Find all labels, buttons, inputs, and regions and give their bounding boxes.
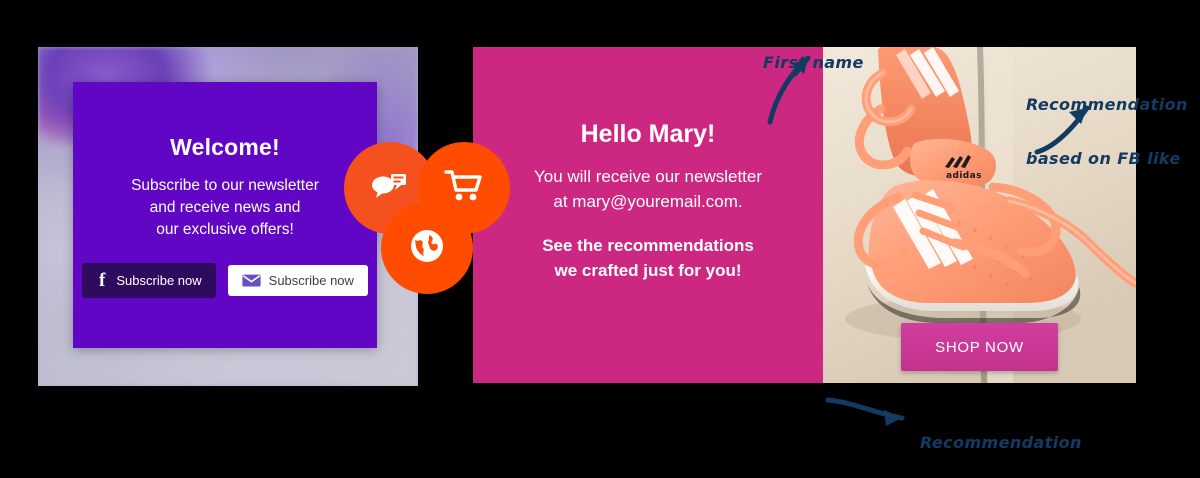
chat-bubbles-icon [370, 171, 410, 206]
facebook-subscribe-label: Subscribe now [116, 273, 201, 288]
subscribe-button-group: f Subscribe now Subscribe now [82, 263, 368, 298]
web-channel-circle[interactable] [381, 202, 473, 294]
email-greeting: Hello Mary! [581, 120, 716, 149]
arrow-to-product-fb-icon [1035, 100, 1105, 156]
welcome-body: Subscribe to our newsletter and receive … [131, 175, 319, 241]
svg-text:adidas: adidas [946, 171, 982, 181]
email-subscribe-label: Subscribe now [269, 273, 354, 288]
welcome-title: Welcome! [170, 134, 280, 161]
shopping-cart-icon [444, 169, 484, 208]
arrow-to-greeting-icon [762, 48, 822, 128]
arrow-to-product-gender-icon [826, 392, 912, 436]
email-body: You will receive our newsletter at mary@… [534, 165, 762, 214]
envelope-icon [242, 274, 261, 287]
globe-icon [409, 228, 445, 269]
welcome-body-line-1: Subscribe to our newsletter [131, 175, 319, 197]
facebook-subscribe-button[interactable]: f Subscribe now [82, 263, 216, 298]
welcome-body-line-3: our exclusive offers! [131, 219, 319, 241]
welcome-body-line-2: and receive news and [131, 197, 319, 219]
screenshot-canvas: Welcome! Subscribe to our newsletter and… [0, 0, 1200, 478]
facebook-icon: f [96, 271, 108, 290]
welcome-card: Welcome! Subscribe to our newsletter and… [73, 82, 377, 348]
shop-now-button[interactable]: SHOP NOW [901, 323, 1058, 371]
channel-icon-cluster [344, 140, 510, 295]
email-body-line-2: at mary@youremail.com. [534, 190, 762, 215]
email-cta-line-2: we crafted just for you! [542, 259, 754, 284]
email-body-line-1: You will receive our newsletter [534, 165, 762, 190]
annotation-gender: Recommendation based on Gender [920, 398, 1082, 478]
annotation-gender-line-1: Recommendation [920, 434, 1082, 452]
email-cta-text: See the recommendations we crafted just … [542, 234, 754, 283]
email-cta-line-1: See the recommendations [542, 234, 754, 259]
